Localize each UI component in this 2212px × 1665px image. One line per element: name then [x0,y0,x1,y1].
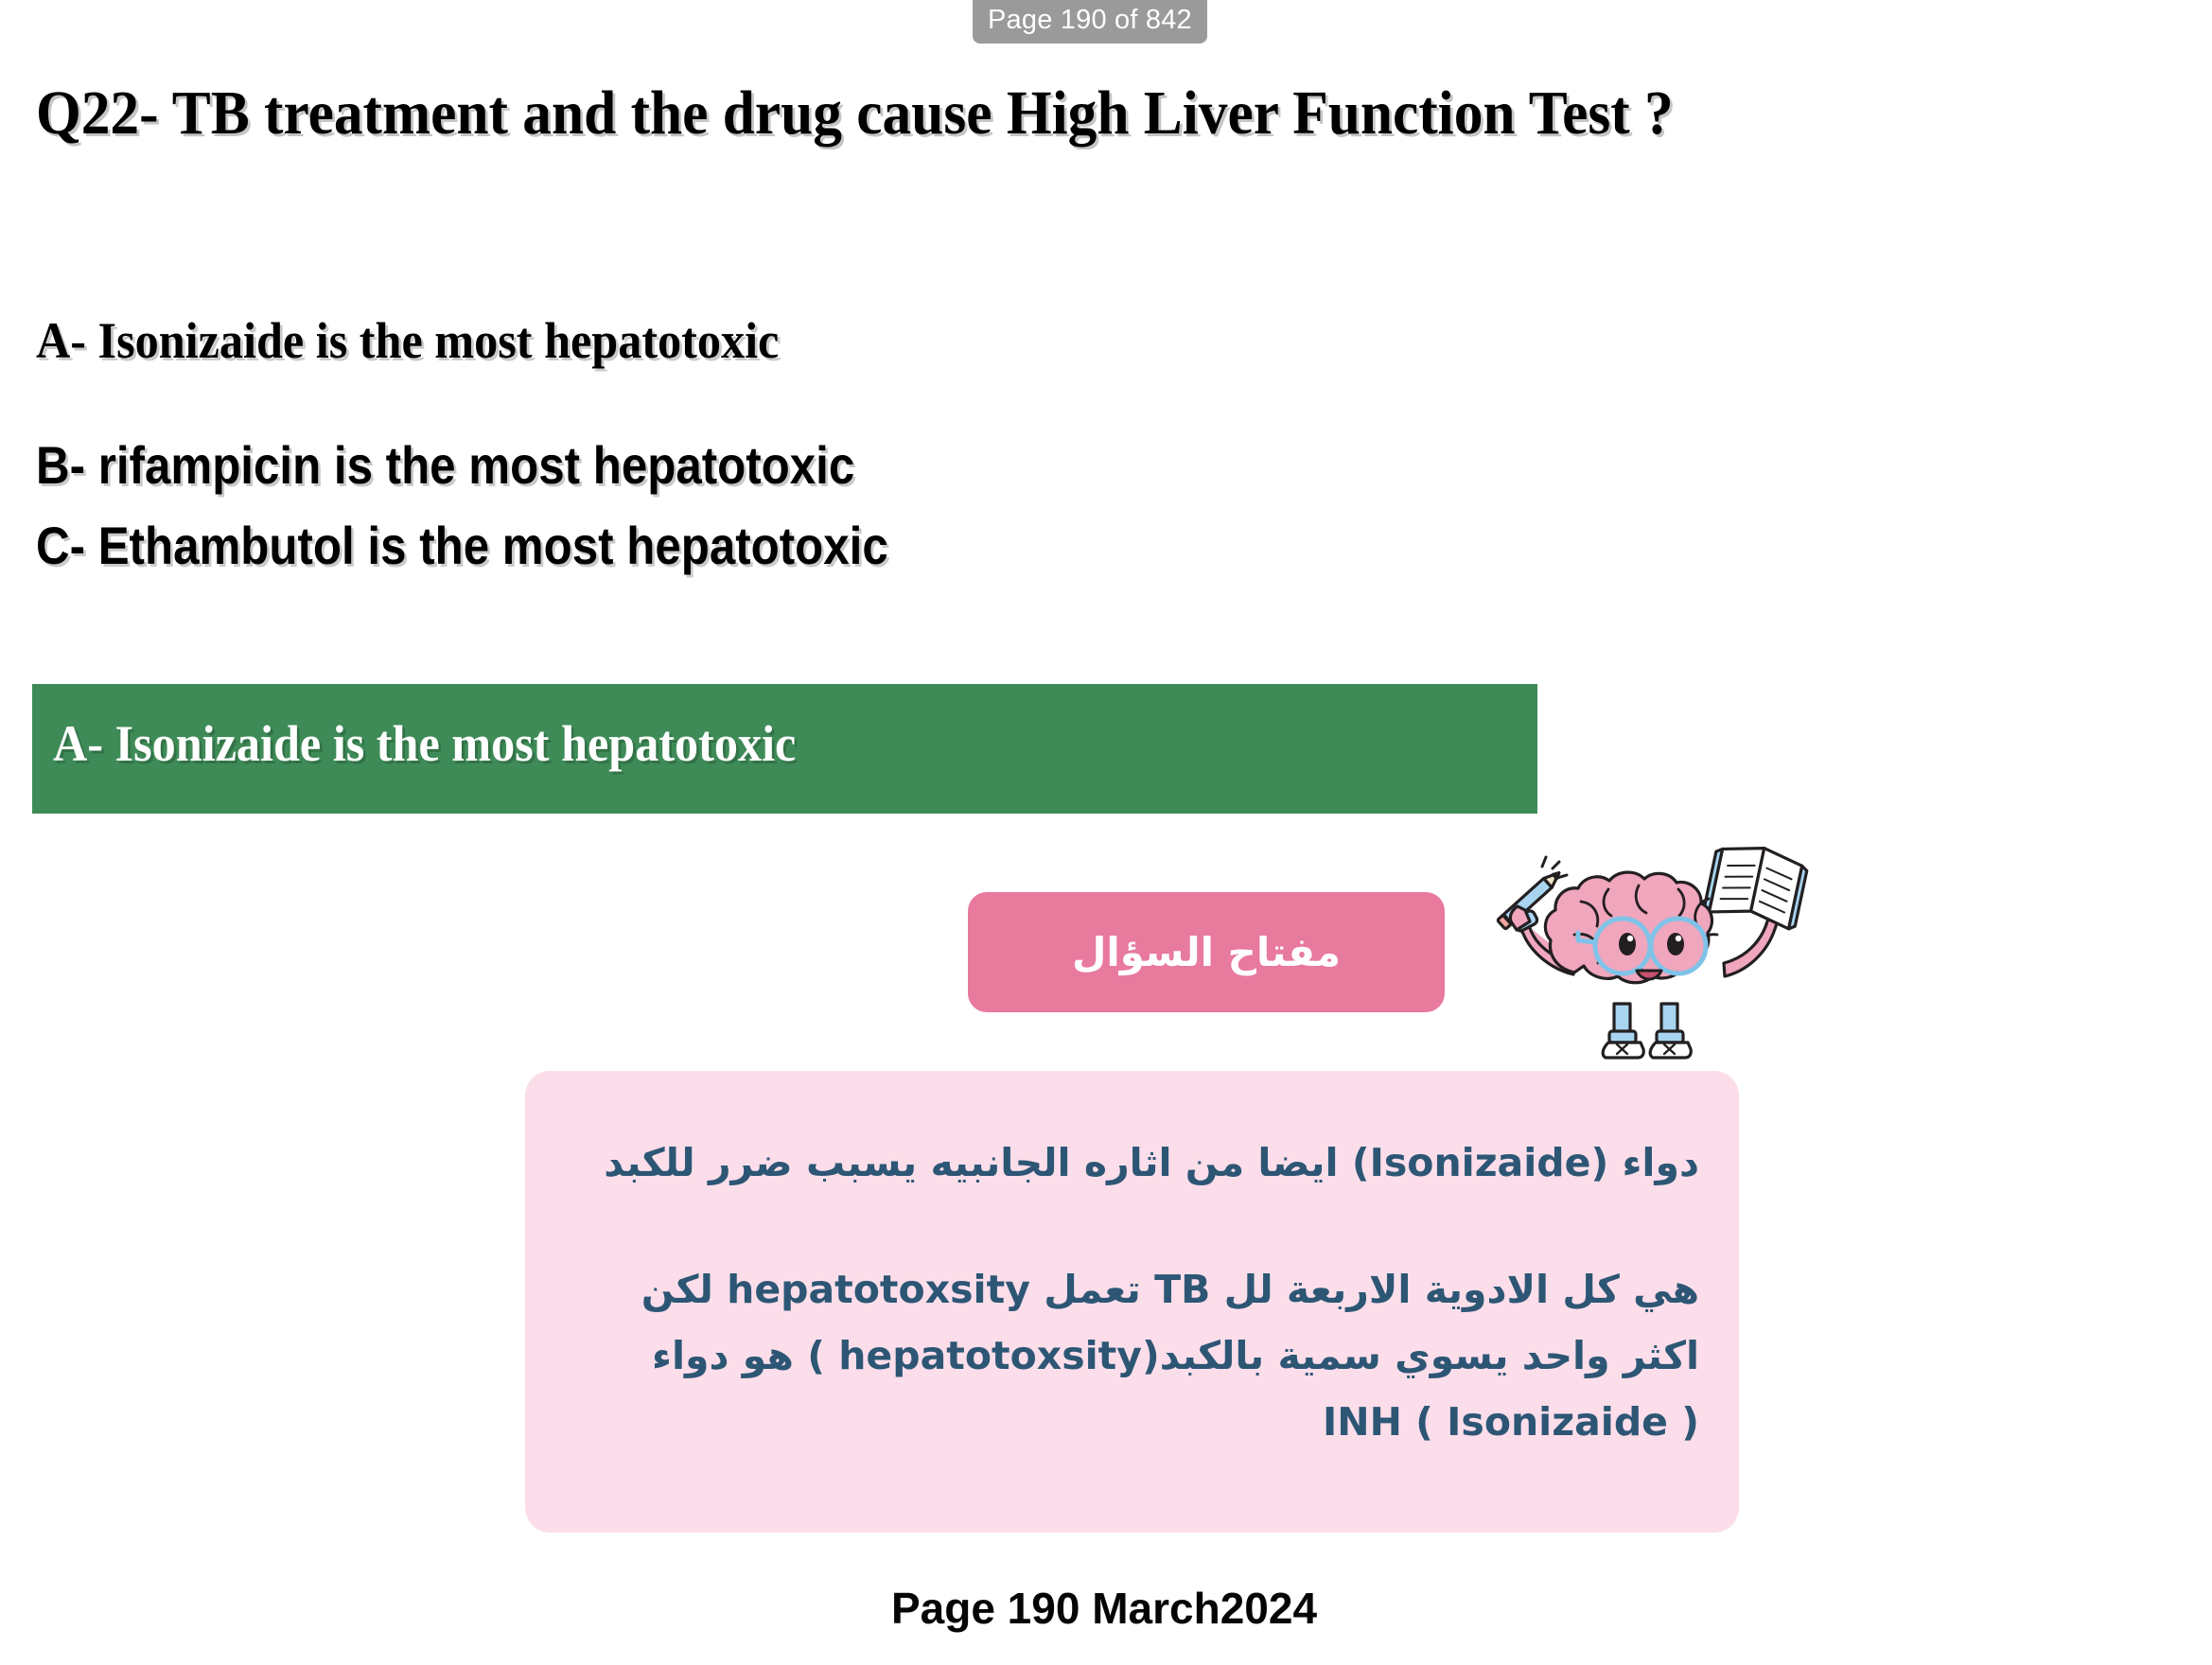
option-c: C- Ethambutol is the most hepatotoxic [36,511,888,581]
explanation-paragraph-2: هي كل الادوية الاربعة لل TB تعمل hepatot… [564,1256,1699,1455]
question-key-label-text: مفتاح السؤال [970,894,1443,1010]
page-indicator-badge: Page 190 of 842 [973,0,1207,44]
option-b: B- rifampicin is the most hepatotoxic [36,430,854,500]
explanation-paragraph-1: دواء (Isonizaide) ايضا من اثاره الجانبيه… [564,1130,1699,1196]
brain-mascot-icon [1483,831,1815,1062]
question-key-label: مفتاح السؤال [970,894,1443,1010]
page-footer: Page 190 March2024 [0,1580,2212,1637]
correct-answer-text: A- Isonizaide is the most hepatotoxic [53,710,796,777]
explanation-card: دواء (Isonizaide) ايضا من اثاره الجانبيه… [525,1071,1739,1533]
page-title: Q22- TB treatment and the drug cause Hig… [36,66,1708,161]
key-label-shadow [984,1005,1436,1044]
correct-answer-banner: A- Isonizaide is the most hepatotoxic [32,684,1537,814]
page-footer-label: Page 190 March2024 [891,1580,1317,1637]
option-a: A- Isonizaide is the most hepatotoxic [36,307,779,374]
